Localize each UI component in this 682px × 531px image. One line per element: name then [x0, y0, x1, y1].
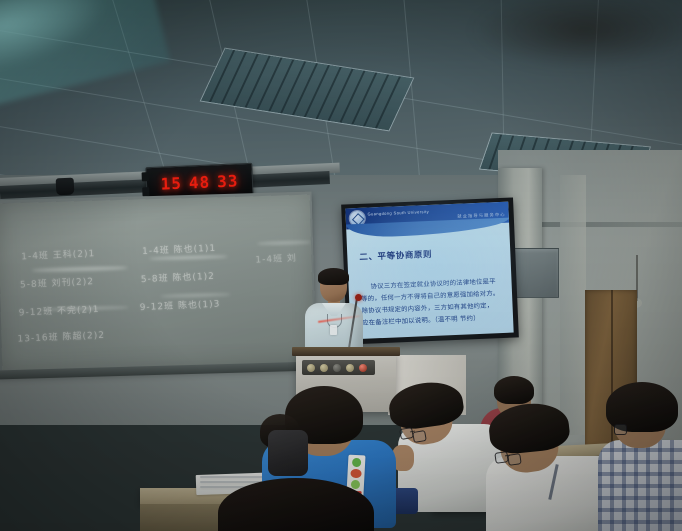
wall-speaker-icon	[56, 178, 75, 196]
board-note-r2: 5-8班 陈也(1)2	[141, 269, 216, 285]
board-note-l2: 5-8班 刘刊(2)2	[20, 274, 95, 290]
lectern-top	[292, 347, 400, 356]
power-indicator-icon	[359, 364, 367, 372]
board-note-l1: 1-4班 王科(2)1	[21, 246, 96, 262]
classroom-whiteboard[interactable]: 1-4班 王科(2)1 5-8班 刘刊(2)2 9-12班 不完(2)1 13-…	[0, 195, 314, 372]
lecturer-hair	[318, 268, 349, 285]
control-knob-3[interactable]	[333, 364, 341, 372]
clock-hours: 15	[160, 173, 182, 193]
lecturer-badge	[330, 325, 337, 335]
backpack	[268, 430, 308, 476]
glasses-lens-left-right-student	[494, 451, 508, 464]
board-note-l4: 13-16班 陈超(2)2	[17, 328, 105, 345]
board-note-r1: 1-4班 陈也(1)1	[142, 241, 217, 257]
control-knob-1[interactable]	[307, 364, 315, 372]
board-note-f1: 1-4班 刘	[255, 251, 297, 266]
clock-minutes: 48	[188, 172, 210, 192]
student-maroon-hair	[494, 376, 534, 404]
glasses-lens-plaid	[614, 424, 627, 435]
control-knob-2[interactable]	[320, 364, 328, 372]
glasses-lens-right	[412, 430, 427, 443]
student-plaid-body	[598, 440, 682, 531]
board-note-l3: 9-12班 不完(2)1	[18, 302, 99, 319]
control-knob-4[interactable]	[346, 364, 354, 372]
ceiling-stain	[470, 0, 682, 70]
classroom-photo: 15 48 33 1-4班 王科(2)1 5-8班 刘刊(2)2 9-12班 不…	[0, 0, 682, 531]
board-note-r3: 9-12班 陈也(1)3	[139, 297, 220, 314]
wall-pillar-secondary	[560, 175, 586, 435]
microphone-head-icon	[355, 294, 362, 301]
clock-seconds: 33	[217, 171, 239, 191]
lectern-control-panel[interactable]	[302, 360, 375, 375]
